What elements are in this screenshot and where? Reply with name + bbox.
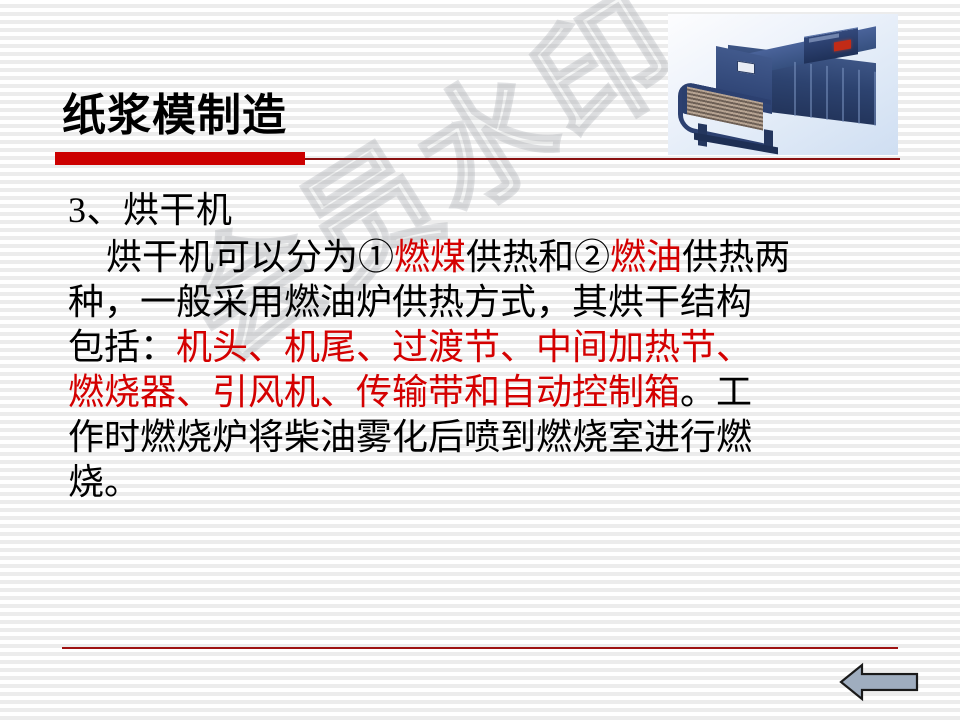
- text-run-3-1: 包括：: [68, 327, 176, 367]
- body-line-2: 种，一般采用燃油炉供热方式，其烘干结构: [68, 280, 938, 325]
- text-run-3-2: 机头、机尾、过渡节、中间加热节、: [176, 327, 752, 367]
- text-run-4-1: 燃烧器、引风机、传输带和自动控制箱: [68, 372, 680, 412]
- text-run-1-5: 供热两: [682, 237, 790, 277]
- body-line-4: 燃烧器、引风机、传输带和自动控制箱。工: [68, 370, 938, 415]
- slide-title: 纸浆模制造: [62, 88, 287, 144]
- text-run-1-4: 燃油: [610, 237, 682, 277]
- slide-canvas: 会员水印 纸浆模制造 3、烘干机 烘干机可以分为①燃煤供热和②燃油供热两种，一般…: [0, 0, 960, 720]
- title-underline-bar: [55, 152, 305, 165]
- text-run-2-1: 种，一般采用燃油炉供热方式，其烘干结构: [68, 282, 752, 322]
- body-line-6: 烧。: [68, 460, 938, 505]
- body-line-3: 包括：机头、机尾、过渡节、中间加热节、: [68, 325, 938, 370]
- text-run-1-1: 烘干机可以分为①: [106, 237, 394, 277]
- text-run-1-2: 燃煤: [394, 237, 466, 277]
- slide-body: 3、烘干机 烘干机可以分为①燃煤供热和②燃油供热两种，一般采用燃油炉供热方式，其…: [68, 186, 938, 505]
- body-paragraph: 烘干机可以分为①燃煤供热和②燃油供热两种，一般采用燃油炉供热方式，其烘干结构包括…: [68, 235, 938, 505]
- text-run-5-1: 作时燃烧炉将柴油雾化后喷到燃烧室进行燃: [68, 417, 752, 457]
- text-run-6-1: 烧。: [68, 462, 140, 502]
- text-run-1-3: 供热和②: [466, 237, 610, 277]
- text-run-4-2: 。工: [680, 372, 752, 412]
- back-arrow-icon[interactable]: [838, 661, 920, 703]
- machine-ribs: [780, 60, 876, 126]
- footer-rule: [62, 647, 898, 649]
- section-heading: 3、烘干机: [68, 186, 938, 235]
- back-arrow-button[interactable]: [838, 661, 920, 703]
- dryer-machine-photo: [668, 14, 898, 155]
- body-line-1: 烘干机可以分为①燃煤供热和②燃油供热两: [68, 235, 938, 280]
- body-line-5: 作时燃烧炉将柴油雾化后喷到燃烧室进行燃: [68, 415, 938, 460]
